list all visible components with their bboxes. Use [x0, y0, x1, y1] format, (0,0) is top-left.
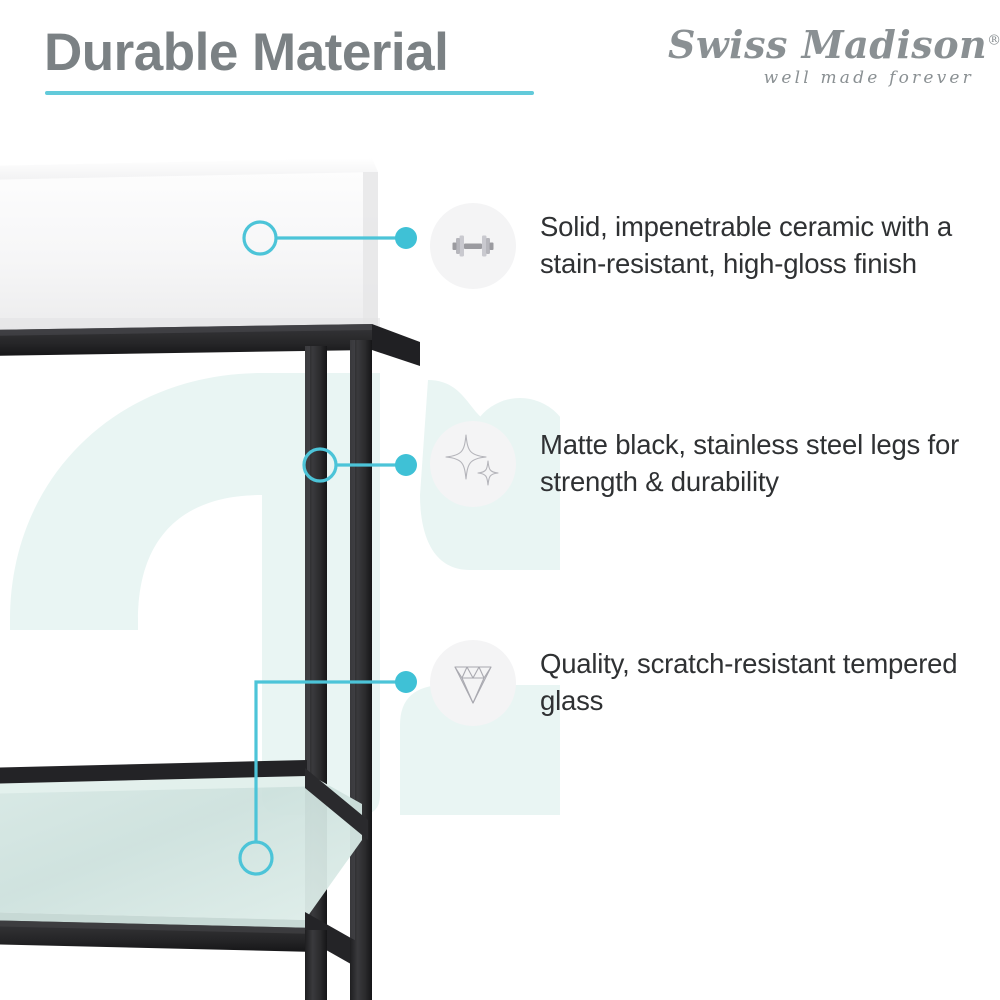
- sparkle-icon: [442, 433, 504, 495]
- feature-item-glass: Quality, scratch-resistant tempered glas…: [430, 640, 990, 726]
- feature-item-legs: Matte black, stainless steel legs for st…: [430, 421, 990, 507]
- page-title: Durable Material: [44, 22, 448, 83]
- console-sink-product-photo: [0, 150, 420, 1000]
- feature-item-ceramic: Solid, impenetrable ceramic with a stain…: [430, 203, 990, 289]
- infographic-page: Durable Material Swiss Madison® well mad…: [0, 0, 1000, 1000]
- brand-logo: Swiss Madison® well made forever: [668, 26, 978, 94]
- feature-text: Matte black, stainless steel legs for st…: [540, 427, 990, 501]
- title-underline: [45, 91, 534, 95]
- brand-name: Swiss Madison®: [668, 26, 978, 64]
- feature-icon-wrapper: [430, 203, 516, 289]
- dumbbell-icon: [445, 218, 501, 274]
- brand-name-text: Swiss Madison: [668, 22, 987, 67]
- diamond-icon: [447, 659, 499, 707]
- feature-icon-wrapper: [430, 640, 516, 726]
- registered-trademark-icon: ®: [987, 32, 1000, 48]
- brand-tagline: well made forever: [668, 68, 974, 88]
- feature-text: Solid, impenetrable ceramic with a stain…: [540, 209, 990, 283]
- feature-icon-wrapper: [430, 421, 516, 507]
- feature-text: Quality, scratch-resistant tempered glas…: [540, 646, 990, 720]
